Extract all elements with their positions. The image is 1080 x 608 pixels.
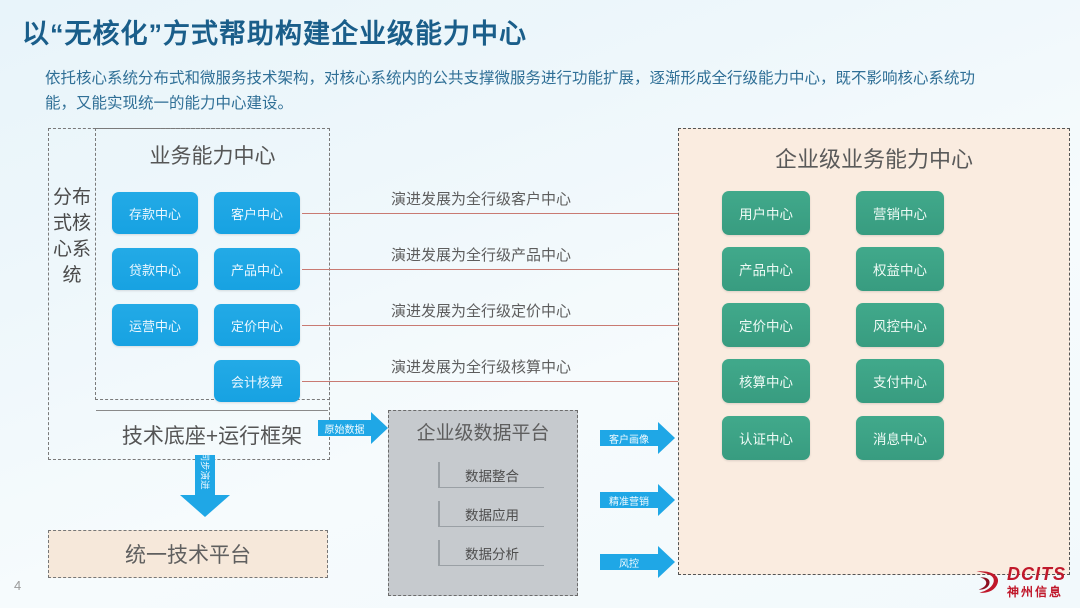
arrow-sync-evolution-label: 同步演进 xyxy=(199,452,210,474)
arrow-raw-data: 原始数据 xyxy=(318,412,388,444)
arrow-precision-marketing-label: 精准营销 xyxy=(600,492,658,508)
page-number: 4 xyxy=(14,578,21,593)
ent-chip-payment[interactable]: 支付中心 xyxy=(856,359,944,403)
core-chip-accounting[interactable]: 会计核算 xyxy=(214,360,300,402)
data-platform-title: 企业级数据平台 xyxy=(388,418,578,445)
ent-chip-user[interactable]: 用户中心 xyxy=(722,191,810,235)
data-platform-item-integration[interactable]: 数据整合 xyxy=(438,462,544,488)
evolve-label-customer: 演进发展为全行级客户中心 xyxy=(391,188,571,209)
ent-chip-auth[interactable]: 认证中心 xyxy=(722,416,810,460)
ent-chip-riskcontrol[interactable]: 风控中心 xyxy=(856,303,944,347)
core-chip-loan[interactable]: 贷款中心 xyxy=(112,248,198,290)
arrow-precision-marketing: 精准营销 xyxy=(600,484,678,516)
evolve-label-product: 演进发展为全行级产品中心 xyxy=(391,244,571,265)
data-platform-item-analysis[interactable]: 数据分析 xyxy=(438,540,544,566)
logo-text-cn: 神州信息 xyxy=(1007,586,1066,598)
ent-chip-message[interactable]: 消息中心 xyxy=(856,416,944,460)
dcits-swoosh-icon xyxy=(972,567,1002,597)
arrow-risk-control: 风控 xyxy=(600,546,678,578)
distributed-core-system-label: 分布式核心系统 xyxy=(49,185,95,289)
evolve-label-pricing: 演进发展为全行级定价中心 xyxy=(391,300,571,321)
arrow-risk-control-label: 风控 xyxy=(600,554,658,570)
evolve-line-product xyxy=(302,269,722,270)
ent-chip-accounting[interactable]: 核算中心 xyxy=(722,359,810,403)
arrow-customer-profile: 客户画像 xyxy=(600,422,678,454)
page-title: 以“无核化”方式帮助构建企业级能力中心 xyxy=(22,12,527,51)
data-platform-item-application[interactable]: 数据应用 xyxy=(438,501,544,527)
slide-canvas: 以“无核化”方式帮助构建企业级能力中心 依托核心系统分布式和微服务技术架构，对核… xyxy=(0,0,1080,608)
core-chip-pricing[interactable]: 定价中心 xyxy=(214,304,300,346)
arrow-raw-data-label: 原始数据 xyxy=(318,420,371,436)
business-capability-center-title: 业务能力中心 xyxy=(95,140,330,170)
evolve-label-accounting: 演进发展为全行级核算中心 xyxy=(391,356,571,377)
arrow-sync-evolution: 同步演进 xyxy=(180,455,230,517)
logo-text-en: DCITS xyxy=(1007,565,1066,583)
ent-chip-marketing[interactable]: 营销中心 xyxy=(856,191,944,235)
core-chip-product[interactable]: 产品中心 xyxy=(214,248,300,290)
ent-chip-product[interactable]: 产品中心 xyxy=(722,247,810,291)
unified-tech-platform-label: 统一技术平台 xyxy=(48,530,328,578)
page-subtitle: 依托核心系统分布式和微服务技术架构，对核心系统内的公共支撑微服务进行功能扩展，逐… xyxy=(45,66,975,116)
core-chip-deposit[interactable]: 存款中心 xyxy=(112,192,198,234)
ent-chip-pricing[interactable]: 定价中心 xyxy=(722,303,810,347)
core-chip-customer[interactable]: 客户中心 xyxy=(214,192,300,234)
tech-base-label: 技术底座+运行框架 xyxy=(96,410,328,458)
dcits-logo: DCITS 神州信息 xyxy=(972,565,1066,598)
evolve-line-pricing xyxy=(302,325,722,326)
core-chip-operation[interactable]: 运营中心 xyxy=(112,304,198,346)
evolve-line-customer xyxy=(302,213,722,214)
ent-chip-rights[interactable]: 权益中心 xyxy=(856,247,944,291)
evolve-line-accounting xyxy=(302,381,722,382)
enterprise-capability-title: 企业级业务能力中心 xyxy=(678,142,1070,174)
arrow-customer-profile-label: 客户画像 xyxy=(600,430,658,446)
